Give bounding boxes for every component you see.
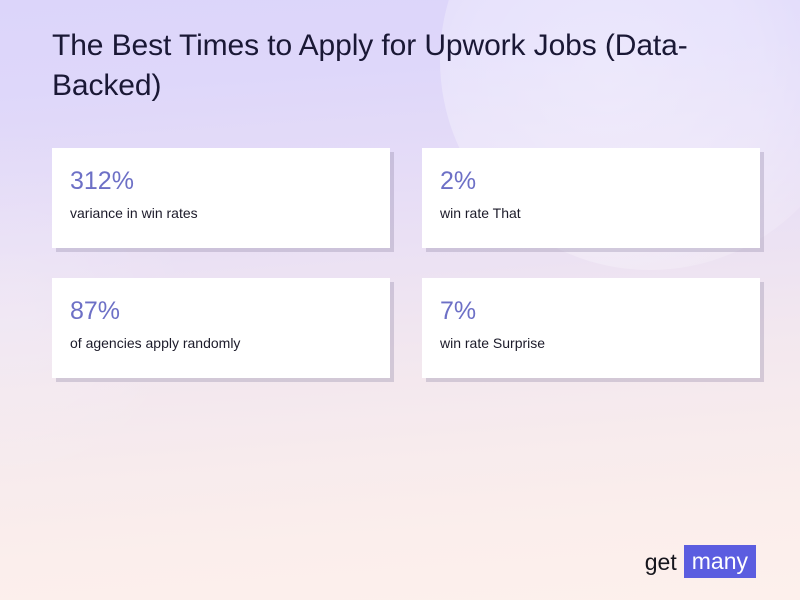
brand-logo: get many — [645, 545, 756, 578]
stat-label: of agencies apply randomly — [70, 334, 372, 353]
page-title: The Best Times to Apply for Upwork Jobs … — [52, 26, 742, 106]
stat-label: variance in win rates — [70, 204, 372, 223]
brand-logo-word-get: get — [645, 548, 684, 576]
stat-value: 2% — [440, 166, 742, 196]
stat-value: 7% — [440, 296, 742, 326]
stat-card: 312% variance in win rates — [52, 148, 390, 248]
stat-card-grid: 312% variance in win rates 2% win rate T… — [52, 148, 760, 378]
stat-card: 87% of agencies apply randomly — [52, 278, 390, 378]
brand-logo-word-many: many — [684, 545, 756, 578]
stat-label: win rate That — [440, 204, 742, 223]
stat-value: 312% — [70, 166, 372, 196]
slide-canvas: The Best Times to Apply for Upwork Jobs … — [0, 0, 800, 600]
stat-label: win rate Surprise — [440, 334, 742, 353]
stat-value: 87% — [70, 296, 372, 326]
stat-card: 2% win rate That — [422, 148, 760, 248]
stat-card: 7% win rate Surprise — [422, 278, 760, 378]
